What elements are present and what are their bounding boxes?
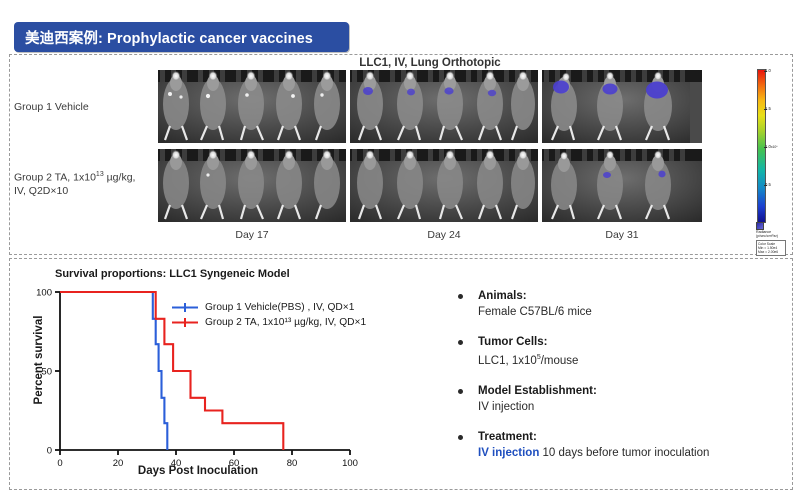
colorbar-tick-2: 1.0x10⁶ bbox=[765, 144, 778, 149]
chart-title: Survival proportions: LLC1 Syngeneic Mod… bbox=[55, 268, 290, 280]
day-block-31 bbox=[542, 70, 702, 222]
bullet-tumor-cells: Tumor Cells: LLC1, 1x105/mouse bbox=[452, 334, 782, 369]
km-curve-series-0 bbox=[60, 292, 167, 450]
colorbar-tick-3: 0.5 bbox=[765, 182, 771, 187]
y-tick-0: 0 bbox=[47, 445, 52, 456]
chart-x-axis-label: Days Post Inoculation bbox=[48, 465, 348, 477]
slide-title-banner: 美迪西案例: Prophylactic cancer vaccines bbox=[14, 22, 349, 52]
day-label-0: Day 17 bbox=[158, 229, 346, 241]
day31-group1-row bbox=[542, 70, 702, 143]
group2-label-pre: Group 2 TA, 1x10 bbox=[14, 172, 96, 184]
radiance-colorbar: 2.0 1.5 1.0x10⁶ 0.5 Radiance (p/sec/cm²/… bbox=[756, 62, 796, 247]
study-details-list: Animals: Female C57BL/6 mice Tumor Cells… bbox=[452, 288, 782, 475]
day24-group2-row bbox=[350, 149, 538, 222]
bullet-treatment-body: IV injection 10 days before tumor inocul… bbox=[478, 445, 782, 461]
colorbar-unit-label: Radiance (p/sec/cm²/sr) bbox=[756, 230, 778, 239]
legend-label-group2: Group 2 TA, 1x10¹³ µg/kg, IV, QD×1 bbox=[205, 315, 366, 330]
colorbar-tick-1: 1.5 bbox=[765, 106, 771, 111]
bullet-model-body: IV injection bbox=[478, 399, 782, 415]
legend-marker-group2 bbox=[172, 317, 198, 328]
colorbar-tick-0: 2.0 bbox=[765, 68, 771, 73]
bullet-animals-head: Animals: bbox=[478, 288, 782, 304]
group2-label-line2: IV, Q2D×10 bbox=[14, 185, 169, 199]
chart-y-axis-label: Percent survival bbox=[33, 300, 45, 420]
legend-item-0: Group 1 Vehicle(PBS) , IV, QD×1 bbox=[172, 300, 366, 315]
colorbar-swatch bbox=[756, 222, 764, 230]
bullet-treatment: Treatment: IV injection 10 days before t… bbox=[452, 429, 782, 461]
day17-group2-row bbox=[158, 149, 346, 222]
legend-marker-group1 bbox=[172, 302, 198, 313]
legend-item-1: Group 2 TA, 1x10¹³ µg/kg, IV, QD×1 bbox=[172, 315, 366, 330]
day-labels: Day 17 Day 24 Day 31 bbox=[158, 229, 750, 245]
day17-group1-row bbox=[158, 70, 346, 143]
day31-group2-row bbox=[542, 149, 702, 222]
legend-label-group1: Group 1 Vehicle(PBS) , IV, QD×1 bbox=[205, 300, 354, 315]
group1-label: Group 1 Vehicle bbox=[14, 101, 164, 115]
colorbar-scale-box: Color Scale Min = 1.50e4 Max = 2.00e6 bbox=[756, 240, 786, 256]
y-tick-100: 100 bbox=[36, 287, 52, 298]
treatment-highlight: IV injection bbox=[478, 447, 539, 459]
imaging-header: LLC1, IV, Lung Orthotopic bbox=[330, 57, 530, 69]
bioluminescence-image-grid bbox=[158, 70, 750, 222]
bullet-animals: Animals: Female C57BL/6 mice bbox=[452, 288, 782, 320]
bullet-tumor-cells-body: LLC1, 1x105/mouse bbox=[478, 350, 782, 369]
group2-label-exponent: 13 bbox=[96, 171, 104, 178]
day-label-2: Day 31 bbox=[542, 229, 702, 241]
group2-label: Group 2 TA, 1x1013 µg/kg, IV, Q2D×10 bbox=[14, 168, 169, 199]
bullet-treatment-head: Treatment: bbox=[478, 429, 782, 445]
day-label-1: Day 24 bbox=[350, 229, 538, 241]
bullet-animals-body: Female C57BL/6 mice bbox=[478, 304, 782, 320]
group2-label-post: µg/kg, bbox=[104, 172, 136, 184]
bullet-model-establishment: Model Establishment: IV injection bbox=[452, 383, 782, 415]
bullet-tumor-cells-head: Tumor Cells: bbox=[478, 334, 782, 350]
bullet-model-head: Model Establishment: bbox=[478, 383, 782, 399]
chart-legend: Group 1 Vehicle(PBS) , IV, QD×1 Group 2 … bbox=[172, 300, 366, 330]
page-title: 美迪西案例: Prophylactic cancer vaccines bbox=[14, 27, 313, 48]
day-block-24 bbox=[350, 70, 538, 222]
day24-group1-row bbox=[350, 70, 538, 143]
day-block-17 bbox=[158, 70, 346, 222]
